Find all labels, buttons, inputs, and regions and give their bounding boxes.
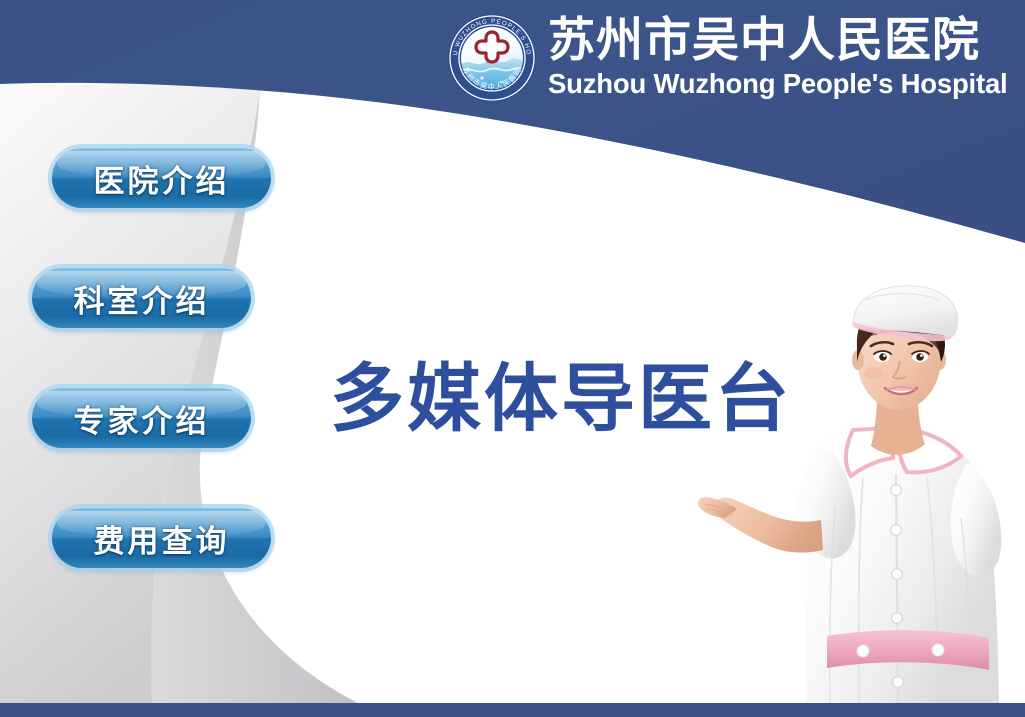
sidebar-item-department-intro[interactable]: 科室介绍 <box>32 268 251 328</box>
sidebar-item-label: 费用查询 <box>94 516 230 561</box>
brand-text-block: 苏州市吴中人民医院 Suzhou Wuzhong People's Hospit… <box>548 15 1008 100</box>
sidebar-item-fee-inquiry[interactable]: 费用查询 <box>52 508 271 568</box>
footer-bar <box>0 703 1025 717</box>
sidebar-item-label: 科室介绍 <box>74 276 210 321</box>
header-brand: SUZHOU WUZHONG PEOPLE'S HOSPITAL 苏州市吴中人民… <box>446 2 1021 114</box>
sidebar-item-label: 专家介绍 <box>74 396 210 441</box>
hospital-seal-logo-svg: SUZHOU WUZHONG PEOPLE'S HOSPITAL 苏州市吴中人民… <box>446 12 538 104</box>
sidebar-item-hospital-intro[interactable]: 医院介绍 <box>52 148 271 208</box>
page-title: 多媒体导医台 <box>330 359 792 439</box>
sidebar-item-expert-intro[interactable]: 专家介绍 <box>32 388 251 448</box>
hospital-name-en: Suzhou Wuzhong People's Hospital <box>548 67 1008 100</box>
kiosk-screen: SUZHOU WUZHONG PEOPLE'S HOSPITAL 苏州市吴中人民… <box>0 0 1025 717</box>
hospital-name-cn: 苏州市吴中人民医院 <box>548 15 1008 67</box>
sidebar-item-label: 医院介绍 <box>94 156 230 201</box>
hospital-seal-logo: SUZHOU WUZHONG PEOPLE'S HOSPITAL 苏州市吴中人民… <box>446 12 538 104</box>
